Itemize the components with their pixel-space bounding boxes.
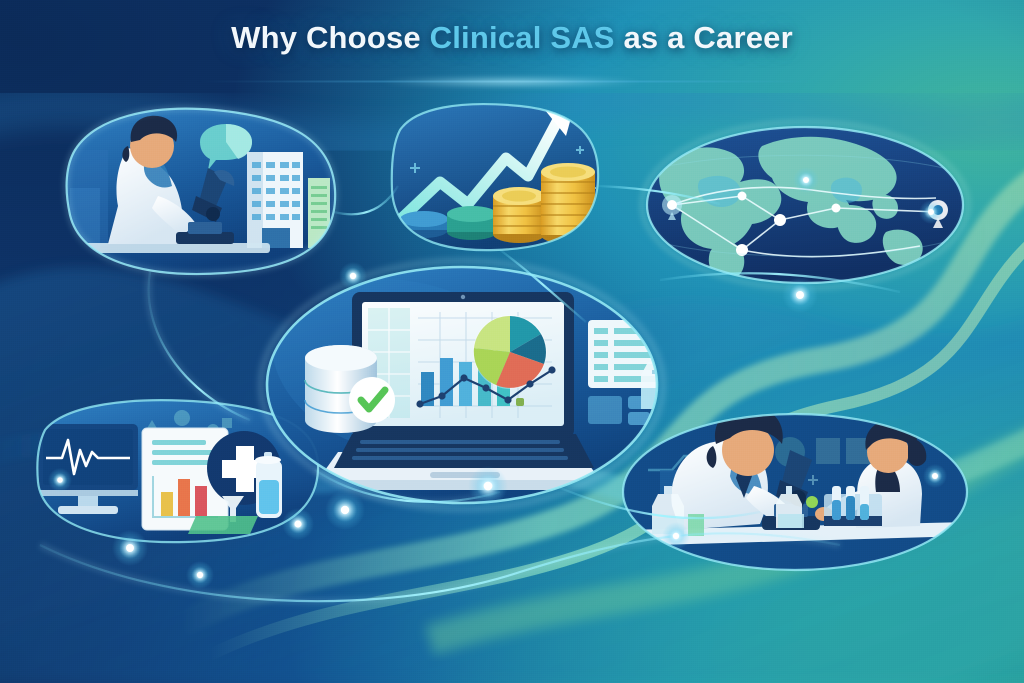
grain-overlay xyxy=(0,0,1024,683)
title-tail: as a Career xyxy=(615,20,793,55)
title-lead: Why Choose xyxy=(231,20,430,55)
title-block: Why Choose Clinical SAS as a Career xyxy=(0,20,1024,56)
page-title: Why Choose Clinical SAS as a Career xyxy=(0,20,1024,56)
infographic-canvas: Why Choose Clinical SAS as a Career xyxy=(0,0,1024,683)
title-accent: Clinical SAS xyxy=(430,20,615,55)
title-underline-glow xyxy=(342,75,682,89)
